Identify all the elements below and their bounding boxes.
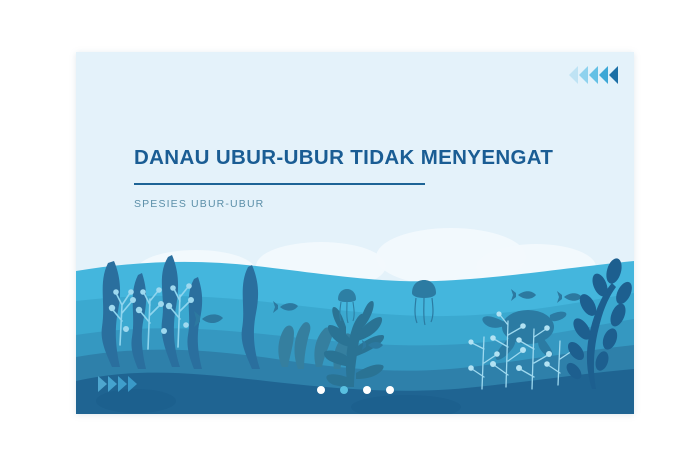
slide-card: DANAU UBUR-UBUR TIDAK MENYENGAT SPESIES … bbox=[76, 52, 634, 414]
title-divider bbox=[134, 183, 425, 185]
chevron-left-icon bbox=[609, 66, 618, 84]
pagination-dot[interactable] bbox=[340, 386, 348, 394]
chevron-left-group[interactable] bbox=[569, 66, 618, 84]
chevron-left-icon bbox=[589, 66, 598, 84]
chevron-left-icon bbox=[569, 66, 578, 84]
pagination-dot[interactable] bbox=[317, 386, 325, 394]
pagination-dots[interactable] bbox=[76, 386, 634, 394]
pagination-dot[interactable] bbox=[363, 386, 371, 394]
page-subtitle: SPESIES UBUR-UBUR bbox=[134, 198, 564, 210]
slide-stage: DANAU UBUR-UBUR TIDAK MENYENGAT SPESIES … bbox=[0, 0, 700, 468]
title-block: DANAU UBUR-UBUR TIDAK MENYENGAT SPESIES … bbox=[134, 146, 564, 210]
chevron-left-icon bbox=[579, 66, 588, 84]
chevron-left-icon bbox=[599, 66, 608, 84]
pagination-dot[interactable] bbox=[386, 386, 394, 394]
page-title: DANAU UBUR-UBUR TIDAK MENYENGAT bbox=[134, 146, 564, 170]
